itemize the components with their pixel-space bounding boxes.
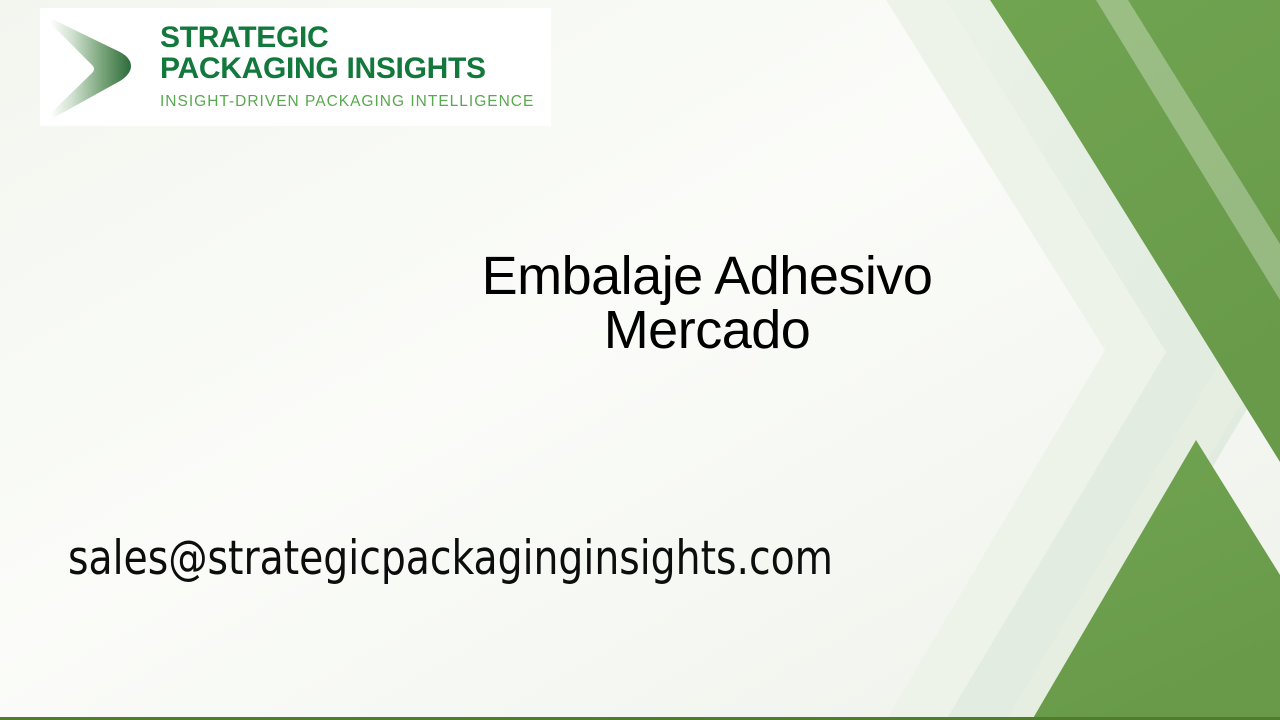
- slide-title-line-2: Mercado: [300, 303, 1114, 357]
- contact-email[interactable]: sales@strategicpackaginginsights.com: [68, 535, 833, 582]
- chevron-band-inner: [1006, 0, 1272, 720]
- company-logo[interactable]: STRATEGIC PACKAGING INSIGHTS INSIGHT-DRI…: [40, 8, 551, 126]
- chevron-band-middle: [946, 0, 1280, 720]
- presentation-slide: STRATEGIC PACKAGING INSIGHTS INSIGHT-DRI…: [0, 0, 1280, 720]
- highlight-streak: [1096, 0, 1280, 300]
- slide-title: Embalaje Adhesivo Mercado: [300, 249, 1114, 357]
- chevron-arrow-mark-icon: [36, 8, 154, 126]
- slide-title-line-1: Embalaje Adhesivo: [300, 249, 1114, 303]
- green-wedge-upper: [990, 0, 1280, 462]
- logo-line-1: STRATEGIC: [160, 23, 551, 54]
- green-wedge-lower: [1032, 440, 1280, 720]
- logo-line-2: PACKAGING INSIGHTS: [160, 54, 551, 85]
- logo-tagline: INSIGHT-DRIVEN PACKAGING INTELLIGENCE: [160, 93, 551, 111]
- chevron-band-outer: [886, 0, 1221, 720]
- logo-wordmark: STRATEGIC PACKAGING INSIGHTS INSIGHT-DRI…: [154, 23, 551, 111]
